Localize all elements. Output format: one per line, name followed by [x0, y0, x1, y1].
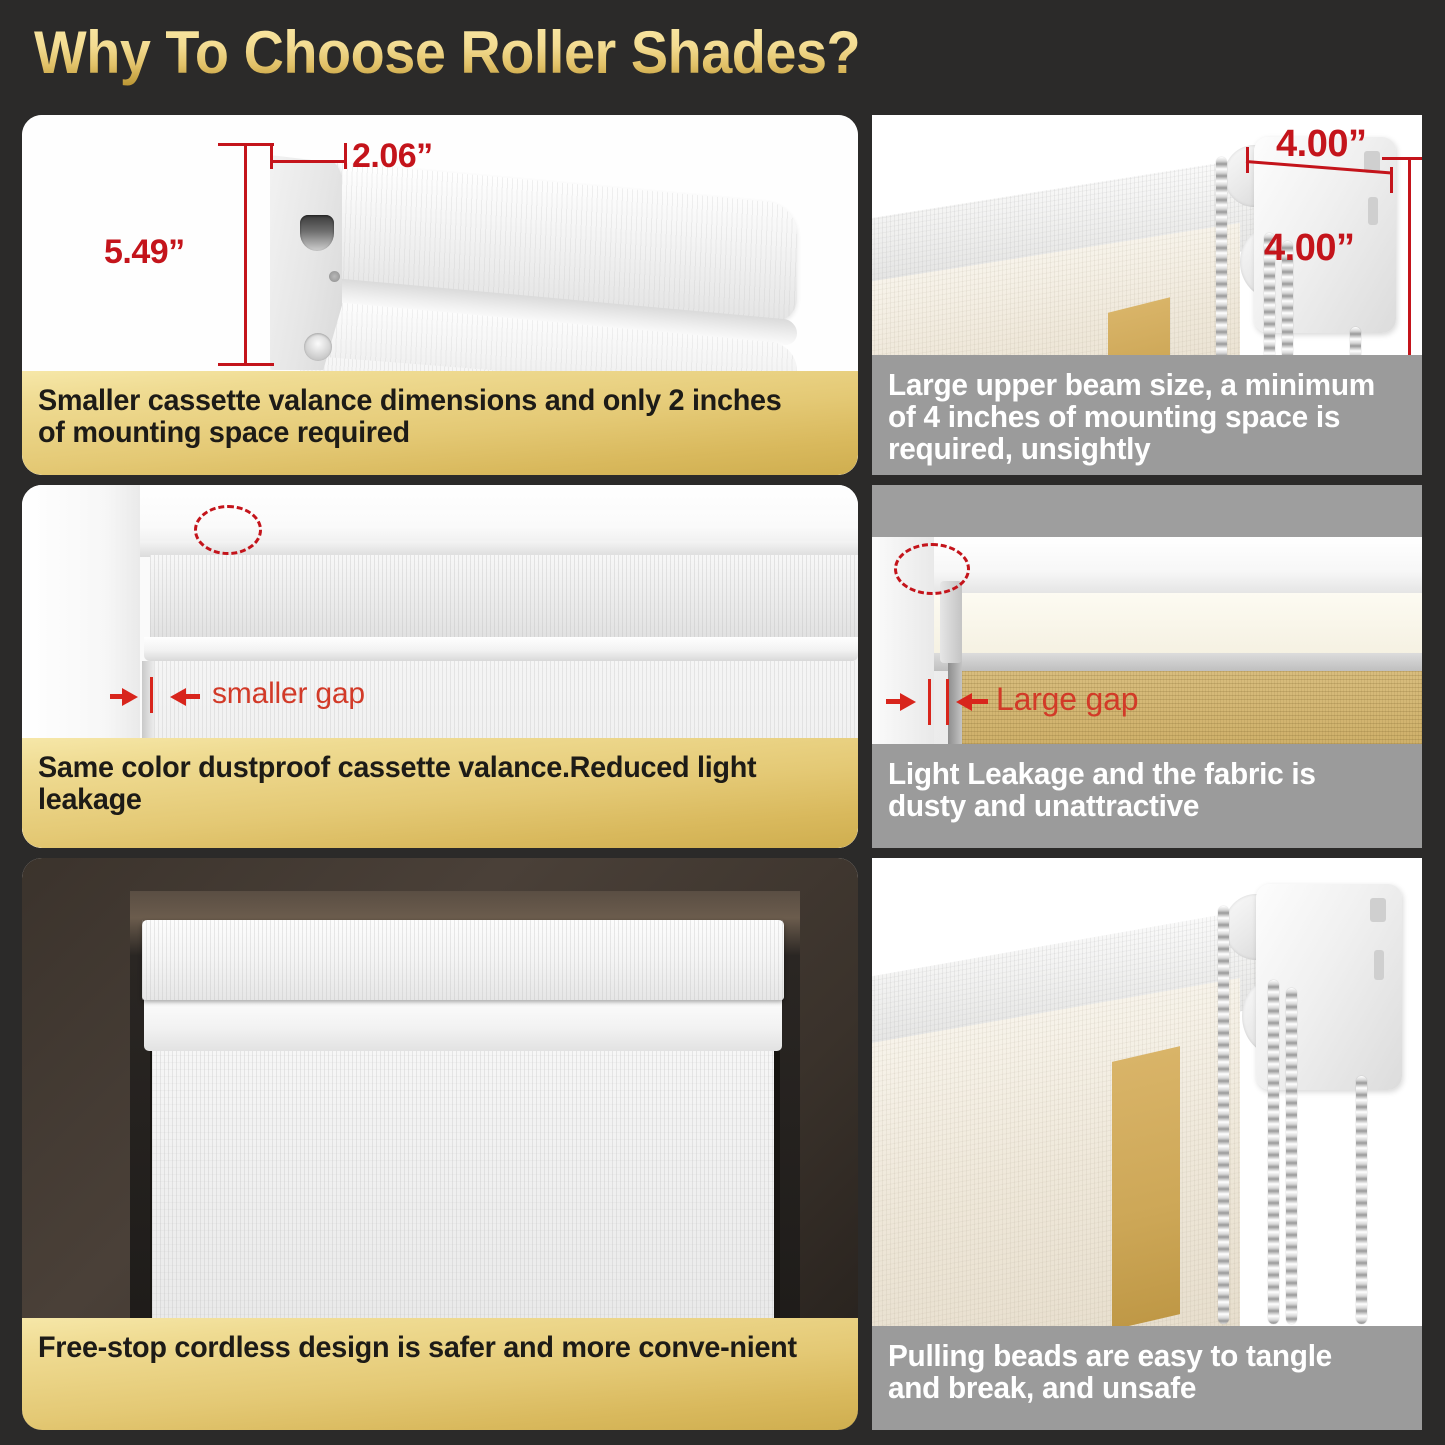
page-title: Why To Choose Roller Shades?	[34, 18, 1034, 96]
gap-arrow-left-icon	[170, 688, 186, 706]
gap-arrow-right-tail	[886, 699, 902, 704]
dim-line-height	[244, 143, 247, 365]
bracket-slot-lower	[1368, 197, 1378, 225]
bead-chain-front[interactable]	[1218, 906, 1229, 1324]
gap-marker	[150, 677, 153, 713]
gap-arrow-right-tail	[110, 694, 124, 699]
panel-light-leakage: Large gap Light Leakage and the fabric i…	[872, 485, 1422, 848]
gap-label: Large gap	[996, 681, 1138, 718]
panel-caption-text: Pulling beads are easy to tangle and bre…	[888, 1340, 1385, 1404]
cassette-valance	[142, 920, 784, 1000]
dim-tick-top	[1382, 157, 1422, 160]
panel-pulling-beads: Pulling beads are easy to tangle and bre…	[872, 858, 1422, 1430]
bracket-slot-lower	[1374, 950, 1384, 980]
shade-fabric	[152, 1048, 774, 1336]
panel-caption-bar: Pulling beads are easy to tangle and bre…	[872, 1326, 1422, 1430]
comparison-grid: 2.06” 5.49” Smaller cassette valance dim…	[0, 112, 1445, 1442]
bracket-knob-icon	[304, 333, 332, 361]
tan-back-fabric	[1112, 1046, 1180, 1330]
infographic-page: Why To Choose Roller Shades? 2.06”	[0, 0, 1445, 1445]
gap-label: smaller gap	[212, 677, 365, 711]
bracket-slot-icon	[300, 215, 334, 251]
dim-tick-right	[344, 143, 347, 169]
panel-caption-bar: Smaller cassette valance dimensions and …	[22, 371, 858, 475]
gap-arrow-right-icon	[900, 693, 916, 711]
highlight-ellipse-icon	[194, 505, 262, 555]
gap-arrow-left-tail	[972, 699, 988, 704]
gap-arrow-right-icon	[122, 688, 138, 706]
gap-marker-b	[946, 679, 949, 725]
gap-marker-a	[928, 679, 931, 725]
panel-caption-bar: Large upper beam size, a minimum of 4 in…	[872, 355, 1422, 475]
highlight-ellipse-icon	[894, 543, 970, 595]
dim-tick-left	[270, 143, 273, 169]
dimension-label-width: 4.00”	[1276, 123, 1366, 166]
dim-line-width	[270, 160, 346, 163]
photo-top-band	[872, 485, 1422, 537]
dim-line-height	[1408, 157, 1411, 357]
panel-caption-bar: Same color dustproof cassette valance.Re…	[22, 738, 858, 848]
panel-caption-bar: Free-stop cordless design is safer and m…	[22, 1318, 858, 1430]
bead-chain-tail[interactable]	[1356, 1076, 1367, 1324]
dimension-label-width: 2.06”	[352, 137, 433, 176]
upper-beam	[934, 537, 1422, 595]
bead-chain-mid[interactable]	[1268, 980, 1279, 1324]
cassette-valance	[150, 555, 858, 643]
bracket-slot-upper	[1370, 898, 1386, 922]
panel-large-upper-beam: 4.00” 4.00” Large upper beam size, a min…	[872, 115, 1422, 475]
panel-caption-text: Same color dustproof cassette valance.Re…	[38, 752, 810, 816]
page-title-text: Why To Choose Roller Shades?	[34, 18, 964, 87]
panel-caption-text: Large upper beam size, a minimum of 4 in…	[888, 369, 1385, 466]
beam-fabric-band	[934, 593, 1422, 655]
dimension-label-height: 4.00”	[1264, 227, 1354, 270]
panel-caption-text: Free-stop cordless design is safer and m…	[38, 1332, 810, 1364]
beam-bottom-edge	[934, 653, 1422, 671]
panel-cordless-design: Free-stop cordless design is safer and m…	[22, 858, 858, 1430]
gap-arrow-left-tail	[186, 694, 200, 699]
panel-caption-text: Light Leakage and the fabric is dusty an…	[888, 758, 1385, 822]
panel-smaller-gap: smaller gap Same color dustproof cassett…	[22, 485, 858, 848]
bead-chain-mid2[interactable]	[1286, 988, 1297, 1324]
cassette-bottom-lip	[144, 637, 858, 661]
cassette-lower-lip	[144, 993, 782, 1051]
panel-caption-bar: Light Leakage and the fabric is dusty an…	[872, 744, 1422, 848]
dimension-label-height: 5.49”	[104, 233, 185, 272]
panel-cassette-dimensions: 2.06” 5.49” Smaller cassette valance dim…	[22, 115, 858, 475]
panel-caption-text: Smaller cassette valance dimensions and …	[38, 385, 810, 449]
bracket-screw-icon	[329, 271, 340, 282]
gap-arrow-left-icon	[956, 693, 972, 711]
